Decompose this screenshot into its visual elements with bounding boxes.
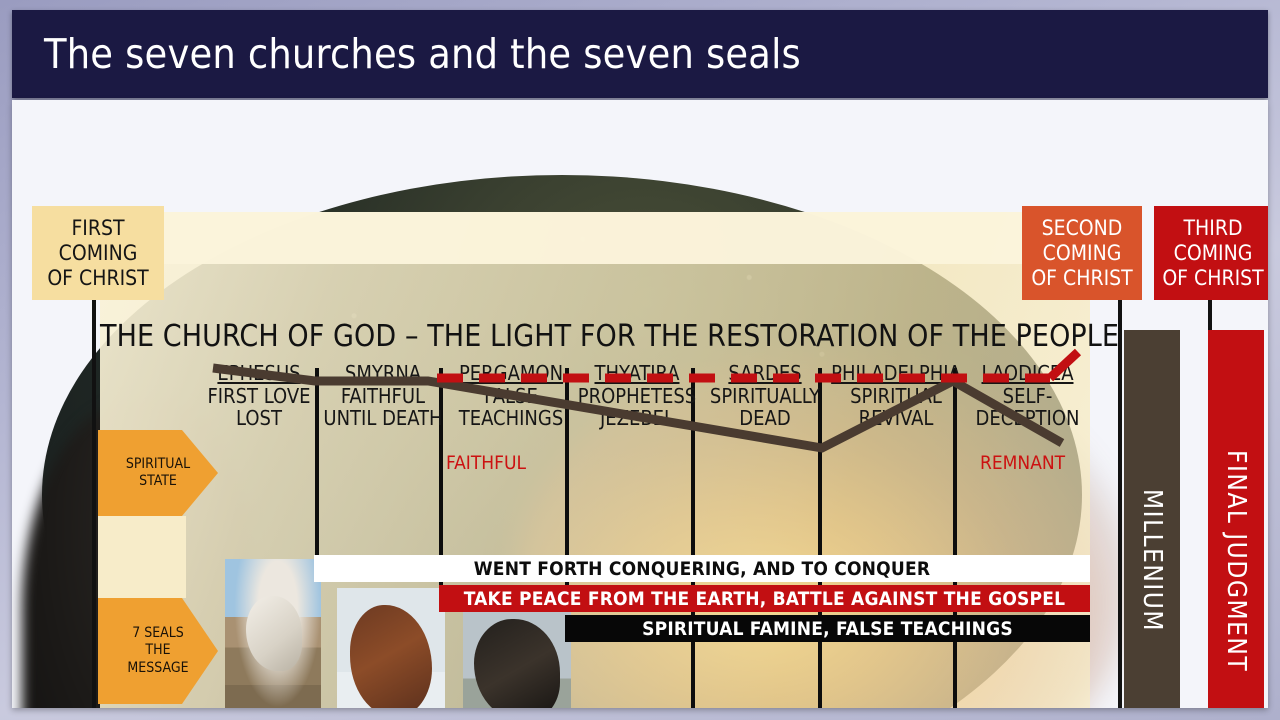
church-column-thyatira[interactable]: THYATIRA PROPHETESS JEZEBEL (576, 362, 698, 430)
church-name: SMYRNA (322, 362, 444, 385)
church-name: PERGAMON (450, 362, 572, 385)
callout-line1: THIRD (1154, 216, 1268, 241)
callout-line1: SECOND (1022, 216, 1142, 241)
church-desc-line2: JEZEBEL (576, 407, 698, 430)
arrow-label-line2: STATE (139, 473, 177, 489)
second-coming-line (1118, 298, 1122, 708)
church-desc-line1: FAITHFUL (322, 385, 444, 408)
seal-label: WENT FORTH CONQUERING, AND TO CONQUER (474, 558, 931, 580)
red-horse-image (337, 588, 445, 708)
church-desc-line2: DEAD (702, 407, 828, 430)
millenium-bar[interactable]: MILLENIUM (1124, 330, 1180, 708)
church-desc-line2: TEACHINGS (450, 407, 572, 430)
callout-line3: OF CHRIST (32, 266, 164, 291)
seal-bar-second[interactable]: TAKE PEACE FROM THE EARTH, BATTLE AGAINS… (439, 585, 1090, 612)
callout-line2: COMING (32, 241, 164, 266)
callout-line3: OF CHRIST (1022, 266, 1142, 291)
black-horse-image (463, 610, 571, 708)
church-desc-line2: DECEPTION (965, 407, 1090, 430)
church-desc-line1: SPIRITUAL (830, 385, 962, 408)
arrow-label-line1: SPIRITUAL (126, 456, 190, 472)
church-column-pergamon[interactable]: PERGAMON FALSE TEACHINGS (450, 362, 572, 430)
church-column-philadelphia[interactable]: PHILADELPHIA SPIRITUAL REVIVAL (830, 362, 962, 430)
church-column-sardes[interactable]: SARDES SPIRITUALLY DEAD (702, 362, 828, 430)
seal-label: SPIRITUAL FAMINE, FALSE TEACHINGS (642, 618, 1013, 640)
seal-bar-third[interactable]: SPIRITUAL FAMINE, FALSE TEACHINGS (565, 615, 1090, 642)
church-column-ephesus[interactable]: EPHESUS FIRST LOVE LOST (200, 362, 318, 430)
remnant-annotation: REMNANT (980, 452, 1065, 474)
church-desc-line1: FIRST LOVE (200, 385, 318, 408)
church-columns: EPHESUS FIRST LOVE LOST SMYRNA FAITHFUL … (200, 362, 1090, 454)
faithful-annotation: FAITHFUL (446, 452, 526, 474)
millenium-label: MILLENIUM (1137, 489, 1167, 632)
church-desc-line2: LOST (200, 407, 318, 430)
cream-panel-top (100, 212, 1090, 264)
final-judgment-label: FINAL JUDGMENT (1221, 450, 1251, 672)
seal-bar-first[interactable]: WENT FORTH CONQUERING, AND TO CONQUER (314, 555, 1090, 582)
callout-line3: OF CHRIST (1154, 266, 1268, 291)
arrow-gap (98, 516, 186, 598)
callout-line2: COMING (1154, 241, 1268, 266)
church-column-smyrna[interactable]: SMYRNA FAITHFUL UNTIL DEATH (322, 362, 444, 430)
arrow-label-line2: THE (145, 642, 170, 658)
page-title: The seven churches and the seven seals (44, 30, 801, 78)
slide-root: The seven churches and the seven seals T… (0, 0, 1280, 720)
church-name: PHILADELPHIA (830, 362, 962, 385)
arrow-label-line1: 7 SEALS (132, 625, 184, 641)
church-desc-line1: SPIRITUALLY (702, 385, 828, 408)
panel-heading: THE CHURCH OF GOD – THE LIGHT FOR THE RE… (100, 319, 1090, 354)
church-desc-line2: UNTIL DEATH (322, 407, 444, 430)
church-desc-line2: REVIVAL (830, 407, 962, 430)
callout-line1: FIRST (32, 216, 164, 241)
first-coming-callout[interactable]: FIRST COMING OF CHRIST (32, 206, 164, 300)
church-name: EPHESUS (200, 362, 318, 385)
church-desc-line1: SELF- (965, 385, 1090, 408)
callout-line2: COMING (1022, 241, 1142, 266)
church-column-laodicea[interactable]: LAODICEA SELF- DECEPTION (965, 362, 1090, 430)
arrow-label-line3: MESSAGE (127, 660, 188, 676)
slide-title-bar: The seven churches and the seven seals (12, 10, 1268, 98)
church-name: SARDES (702, 362, 828, 385)
church-desc-line1: FALSE (450, 385, 572, 408)
slide-canvas: THE CHURCH OF GOD – THE LIGHT FOR THE RE… (12, 100, 1268, 708)
white-horse-image (225, 559, 321, 708)
church-name: THYATIRA (576, 362, 698, 385)
seal-label: TAKE PEACE FROM THE EARTH, BATTLE AGAINS… (464, 588, 1066, 610)
church-name: LAODICEA (965, 362, 1090, 385)
second-coming-callout[interactable]: SECOND COMING OF CHRIST (1022, 206, 1142, 300)
final-judgment-bar[interactable]: FINAL JUDGMENT (1208, 330, 1264, 708)
third-coming-callout[interactable]: THIRD COMING OF CHRIST (1154, 206, 1268, 300)
first-coming-line (92, 295, 96, 708)
church-desc-line1: PROPHETESS (576, 385, 698, 408)
